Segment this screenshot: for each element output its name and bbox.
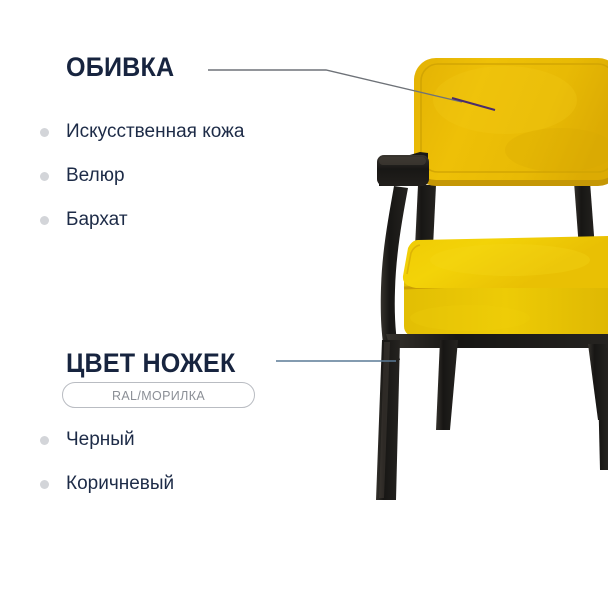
seat-frame-rail xyxy=(386,334,608,348)
section-title-leg-color: ЦВЕТ НОЖЕК xyxy=(66,348,236,379)
armrest xyxy=(377,152,429,186)
list-item[interactable]: Бархат xyxy=(40,198,244,242)
chair-front-left-leg xyxy=(376,340,400,500)
option-list-leg-color: Черный Коричневый xyxy=(40,418,174,506)
product-spec-illustration: ОБИВКА Искусственная кожа Велюр Бархат Ц… xyxy=(0,0,608,608)
option-label: Искусственная кожа xyxy=(66,121,244,143)
option-label: Велюр xyxy=(66,165,125,187)
chair-front-right-leg xyxy=(588,344,608,420)
option-label: Коричневый xyxy=(66,473,174,495)
option-label: Черный xyxy=(66,429,135,451)
backrest-cushion xyxy=(414,58,608,186)
option-label: Бархат xyxy=(66,209,128,231)
list-item[interactable]: Искусственная кожа xyxy=(40,110,244,154)
badge-ral-morilka[interactable]: RAL/МОРИЛКА xyxy=(62,382,255,408)
list-item[interactable]: Черный xyxy=(40,418,174,462)
badge-label: RAL/МОРИЛКА xyxy=(112,388,205,403)
list-item[interactable]: Коричневый xyxy=(40,462,174,506)
seat-cushion xyxy=(403,236,608,338)
chair-rear-left-leg xyxy=(436,340,458,430)
bullet-icon xyxy=(40,216,49,225)
armchair-illustration xyxy=(0,0,608,608)
bullet-icon xyxy=(40,172,49,181)
bullet-icon xyxy=(40,128,49,137)
section-title-upholstery: ОБИВКА xyxy=(66,52,174,83)
list-item[interactable]: Велюр xyxy=(40,154,244,198)
option-list-upholstery: Искусственная кожа Велюр Бархат xyxy=(40,110,244,242)
bullet-icon xyxy=(40,436,49,445)
bullet-icon xyxy=(40,480,49,489)
